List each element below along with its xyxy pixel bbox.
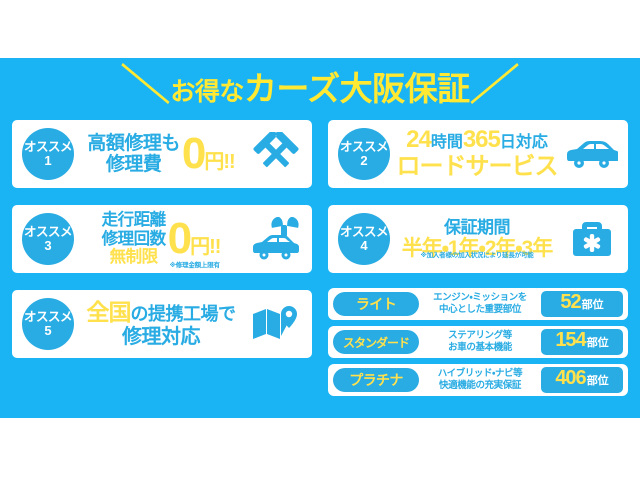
badge-number: 3 <box>44 239 51 253</box>
feature-3-price: 0 円!! ※修理金額上限有 <box>168 218 221 260</box>
recommend-badge-4: オススメ 4 <box>338 213 390 265</box>
feature-1-amount: 0 <box>182 133 204 175</box>
feature-3-line3: 無制限 <box>102 248 166 266</box>
badge-label: オススメ <box>24 141 72 154</box>
feature-card-4-body: 保証期間 半年・1年・2年・3年 ※加入者様の加入状況により延長が可能 <box>390 218 564 261</box>
plan-desc-light-line2: 中心とした重要部位 <box>422 304 538 316</box>
badge-label: オススメ <box>24 311 72 324</box>
feature-5-nationwide: 全国 <box>87 299 131 325</box>
badge-label: オススメ <box>24 226 72 239</box>
badge-number: 2 <box>360 154 367 168</box>
plan-desc-platinum: ハイブリッド・ナビ等 快適機能の充実保証 <box>419 368 541 392</box>
feature-card-1-body: 高額修理も 修理費 0 円!! <box>74 133 248 176</box>
feature-card-5-body: 全国の提携工場で 修理対応 <box>74 300 248 348</box>
toolbox-icon <box>564 219 620 259</box>
plan-desc-standard-line2: お車の基本機能 <box>422 342 538 354</box>
plan-count-standard: 154 部位 <box>541 329 623 355</box>
badge-number: 4 <box>360 239 367 253</box>
feature-2-line2: ロードサービス <box>397 154 558 181</box>
plan-count-platinum-number: 406 <box>555 367 585 390</box>
feature-5-line1: 全国の提携工場で <box>87 300 236 326</box>
plan-count-platinum-unit: 部位 <box>587 372 609 388</box>
feature-5-line1-rest: の提携工場で <box>131 304 236 324</box>
feature-5-line2: 修理対応 <box>87 326 236 348</box>
plan-name-light: ライト <box>333 292 419 316</box>
plan-desc-platinum-line1: ハイブリッド・ナビ等 <box>422 368 538 380</box>
feature-3-line1: 走行距離 <box>102 211 166 229</box>
badge-number: 1 <box>44 154 51 168</box>
feature-3-text: 走行距離 修理回数 無制限 <box>102 211 166 266</box>
badge-number: 5 <box>44 324 51 338</box>
feature-card-2-body: 24時間365日対応 ロードサービス <box>390 127 564 181</box>
feature-2-hours-unit: 時間 <box>431 134 463 151</box>
feature-1-price: 0 円!! <box>182 133 235 175</box>
feature-card-3-body: 走行距離 修理回数 無制限 0 円!! ※修理金額上限有 <box>74 211 248 266</box>
page-title-main: カーズ大阪保証 <box>244 70 470 107</box>
feature-3-amount-unit: 円!! <box>190 230 220 259</box>
warranty-poster: ＼ お得なカーズ大阪保証 ／ オススメ 1 高額修理も 修理費 0 円!! <box>0 0 640 480</box>
recommend-badge-2: オススメ 2 <box>338 128 390 180</box>
badge-label: オススメ <box>340 226 388 239</box>
plan-desc-standard: ステアリング等 お車の基本機能 <box>419 330 541 354</box>
plan-name-platinum: プラチナ <box>333 368 419 392</box>
plan-row-platinum[interactable]: プラチナ ハイブリッド・ナビ等 快適機能の充実保証 406 部位 <box>328 364 628 396</box>
poster-header: ＼ お得なカーズ大阪保証 ／ <box>0 62 640 110</box>
feature-2-hours-number: 24 <box>406 126 431 153</box>
plan-count-light-unit: 部位 <box>582 296 604 312</box>
plan-count-light: 52 部位 <box>541 291 623 317</box>
feature-card-2: オススメ 2 24時間365日対応 ロードサービス <box>328 120 628 188</box>
recommend-badge-3: オススメ 3 <box>22 213 74 265</box>
map-pin-icon <box>248 304 304 344</box>
slash-right-decoration: ／ <box>468 65 518 107</box>
feature-card-5: オススメ 5 全国の提携工場で 修理対応 <box>12 290 312 358</box>
feature-3-amount: 0 <box>168 218 190 260</box>
slash-left-decoration: ＼ <box>121 65 171 107</box>
car-icon <box>564 137 620 171</box>
plan-desc-light: エンジン・ミッションを 中心とした重要部位 <box>419 292 541 316</box>
plan-desc-platinum-line2: 快適機能の充実保証 <box>422 380 538 392</box>
feature-2-days-number: 365 <box>463 126 500 153</box>
feature-3-line2: 修理回数 <box>102 230 166 248</box>
plan-count-standard-unit: 部位 <box>587 334 609 350</box>
crossed-hammers-icon <box>248 132 304 176</box>
feature-5-text: 全国の提携工場で 修理対応 <box>87 300 236 348</box>
plan-name-standard: スタンダード <box>333 330 419 354</box>
feature-card-4: オススメ 4 保証期間 半年・1年・2年・3年 ※加入者様の加入状況により延長が… <box>328 205 628 273</box>
feature-card-1: オススメ 1 高額修理も 修理費 0 円!! <box>12 120 312 188</box>
recommend-badge-5: オススメ 5 <box>22 298 74 350</box>
car-wrench-icon <box>248 217 304 261</box>
plan-desc-light-line1: エンジン・ミッションを <box>422 292 538 304</box>
feature-2-text: 24時間365日対応 ロードサービス <box>397 127 558 181</box>
feature-1-line2: 修理費 <box>87 154 180 175</box>
plan-count-standard-number: 154 <box>555 329 585 352</box>
page-title: お得なカーズ大阪保証 <box>170 62 469 110</box>
feature-2-days-unit: 日対応 <box>500 134 548 151</box>
plan-desc-standard-line1: ステアリング等 <box>422 330 538 342</box>
plan-row-light[interactable]: ライト エンジン・ミッションを 中心とした重要部位 52 部位 <box>328 288 628 320</box>
feature-1-amount-unit: 円!! <box>204 145 234 174</box>
recommend-badge-1: オススメ 1 <box>22 128 74 180</box>
plan-count-light-number: 52 <box>560 291 580 314</box>
feature-4-note: ※加入者様の加入状況により延長が可能 <box>420 249 533 259</box>
page-title-prefix: お得な <box>170 78 244 106</box>
feature-2-line1: 24時間365日対応 <box>397 127 558 154</box>
feature-1-text: 高額修理も 修理費 <box>87 133 180 176</box>
feature-3-note: ※修理金額上限有 <box>170 259 220 269</box>
plan-row-standard[interactable]: スタンダード ステアリング等 お車の基本機能 154 部位 <box>328 326 628 358</box>
plan-count-platinum: 406 部位 <box>541 367 623 393</box>
feature-card-3: オススメ 3 走行距離 修理回数 無制限 0 円!! ※修理金額上限有 <box>12 205 312 273</box>
feature-4-line1: 保証期間 <box>402 218 552 237</box>
badge-label: オススメ <box>340 141 388 154</box>
feature-1-line1: 高額修理も <box>87 133 180 154</box>
